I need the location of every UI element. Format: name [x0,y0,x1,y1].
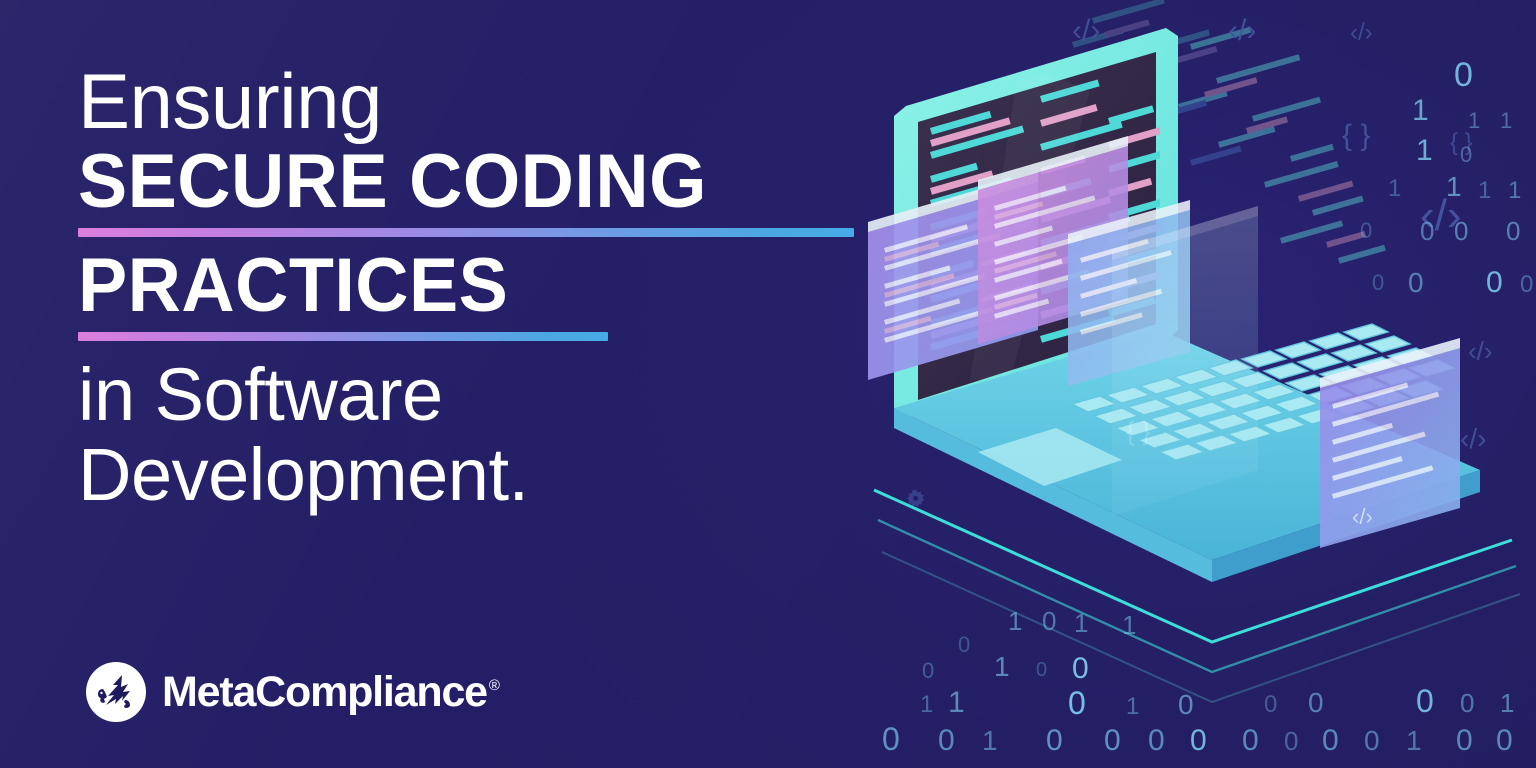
svg-text:0: 0 [1460,142,1472,167]
svg-text:1: 1 [1126,693,1139,720]
code-bracket-glyph-icon: ‹/› [1350,19,1373,46]
svg-text:0: 0 [1520,271,1533,298]
svg-text:0: 0 [1242,724,1259,757]
svg-text:0: 0 [1264,691,1277,718]
svg-text:0: 0 [1454,216,1468,246]
svg-text:0: 0 [1364,725,1380,756]
svg-text:1: 1 [1122,610,1136,640]
logo-wordmark-text: MetaCompliance [162,668,487,716]
curly-brace-glyph-icon: { } [1126,416,1151,446]
code-bracket-glyph-icon: ‹/› [1072,14,1100,47]
svg-text:0: 0 [938,724,955,757]
headline-bold-line-2: PRACTICES [78,246,854,325]
svg-text:0: 0 [922,658,934,683]
headline-sub-line-2: Development. [78,435,878,515]
svg-text:0: 0 [1360,218,1372,243]
svg-text:0: 0 [1308,687,1324,718]
svg-text:1: 1 [920,691,933,718]
svg-text:0: 0 [1454,56,1473,94]
svg-text:1: 1 [1508,177,1521,204]
code-bracket-glyph-icon: ‹/› [1228,14,1256,47]
svg-text:1: 1 [1412,94,1429,127]
svg-text:0: 0 [1416,683,1434,719]
headline-eyebrow: Ensuring [78,62,878,142]
svg-text:1: 1 [1388,175,1401,202]
svg-text:0: 0 [1046,724,1063,757]
svg-text:0: 0 [1456,724,1473,757]
svg-text:1: 1 [948,686,965,719]
svg-text:0: 0 [1408,267,1424,298]
illustration-isometric-laptop: ‹/› ‹/› ‹/› ‹/› ‹/› ‹/› ‹/› { } { } { } [860,0,1536,768]
logo-trademark-symbol: ® [489,677,499,694]
svg-text:1: 1 [994,651,1010,682]
banner-canvas: Ensuring SECURE CODING PRACTICES in Soft… [0,0,1536,768]
svg-text:0: 0 [1460,688,1474,718]
svg-text:0: 0 [1322,724,1339,757]
svg-text:0: 0 [1190,724,1207,757]
brand-logo: MetaCompliance® [86,662,499,722]
svg-text:1: 1 [1074,608,1088,638]
code-bracket-glyph-icon: ‹/› [1352,504,1373,529]
svg-text:0: 0 [1104,724,1121,757]
svg-text:1: 1 [1500,108,1512,133]
svg-text:1: 1 [1468,108,1480,133]
svg-text:1: 1 [1500,688,1514,718]
svg-text:0: 0 [1148,724,1165,757]
headline-sub-line-1: in Software [78,355,878,435]
svg-text:1: 1 [1008,606,1022,636]
code-bracket-glyph-icon: ‹/› [1460,423,1486,454]
logo-wordmark: MetaCompliance® [162,668,499,717]
svg-text:0: 0 [1486,266,1503,299]
headline-block: Ensuring SECURE CODING PRACTICES in Soft… [78,62,878,514]
headline-bold-line-1: SECURE CODING [78,142,854,221]
svg-text:1: 1 [1478,177,1491,204]
metacompliance-eagle-emblem-icon [86,662,146,722]
code-bracket-glyph-icon: ‹/› [1468,336,1493,366]
headline-rule-2 [78,332,608,341]
curly-brace-glyph-icon: { } [1342,119,1370,152]
svg-text:0: 0 [1042,606,1056,636]
svg-text:0: 0 [1506,216,1520,246]
svg-text:0: 0 [1072,652,1089,685]
svg-text:1: 1 [1446,171,1462,202]
svg-text:1: 1 [1406,725,1422,756]
svg-text:0: 0 [1496,724,1513,757]
svg-text:1: 1 [982,725,998,756]
svg-text:0: 0 [1284,726,1298,756]
svg-text:0: 0 [1178,689,1194,720]
svg-text:1: 1 [1416,134,1433,167]
headline-rule-1 [78,228,854,237]
svg-text:0: 0 [1036,659,1047,681]
svg-text:0: 0 [1420,216,1434,246]
svg-text:0: 0 [958,632,970,657]
svg-text:0: 0 [882,721,900,757]
svg-text:0: 0 [1068,685,1086,721]
glass-overlay-sheet: { } [1112,206,1258,516]
svg-text:0: 0 [1372,270,1384,295]
